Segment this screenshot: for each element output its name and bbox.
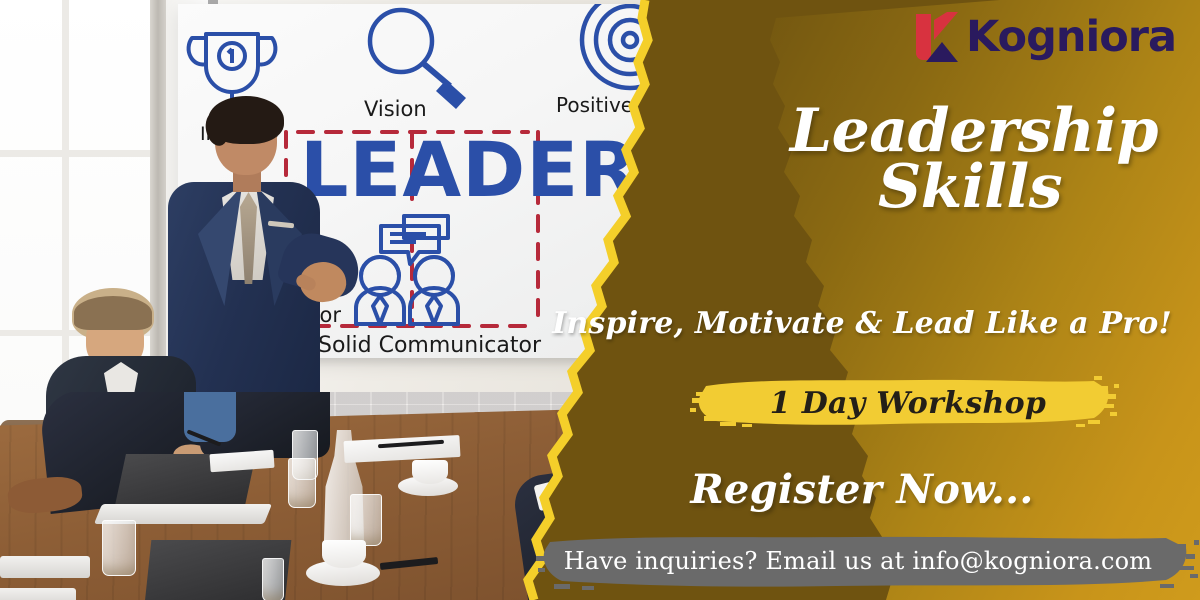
tablet — [0, 556, 90, 578]
tagline: Inspire, Motivate & Lead Like a Pro! — [542, 306, 1182, 341]
contact-bar: Have inquiries? Email us at info@kognior… — [536, 528, 1200, 594]
attendee-hair-top — [74, 296, 152, 330]
headline-line-2: Skills — [598, 160, 1158, 216]
hand — [605, 392, 673, 436]
magnifier-icon — [370, 10, 450, 86]
coffee-cup — [412, 460, 448, 484]
contact-text: Have inquiries? Email us at info@kognior… — [536, 528, 1200, 594]
label-solid-communicator: Solid Communicator — [318, 333, 542, 358]
workshop-badge: 1 Day Workshop — [690, 372, 1120, 434]
target-icon — [582, 4, 648, 88]
brand-name: Kogniora — [966, 16, 1176, 59]
workshop-badge-label: 1 Day Workshop — [690, 372, 1120, 434]
water-glass — [350, 494, 382, 546]
register-cta[interactable]: Register Now... — [542, 466, 1182, 513]
k-monogram-icon — [914, 10, 966, 64]
hand — [559, 392, 650, 465]
water-glass — [262, 558, 284, 600]
leader-word: LEADER — [300, 125, 639, 214]
page-title: Leadership Skills — [598, 104, 1158, 216]
notepad — [0, 588, 76, 600]
label-vision: Vision — [364, 97, 427, 121]
two-people-speech-icon — [356, 216, 458, 324]
event-promo-banner: Integrity Vision Positive LEADER — [0, 0, 1200, 600]
water-glass — [288, 458, 316, 508]
coffee-cup — [322, 540, 366, 568]
water-glass — [102, 520, 136, 576]
brand-logo[interactable]: Kogniora — [914, 8, 1176, 66]
